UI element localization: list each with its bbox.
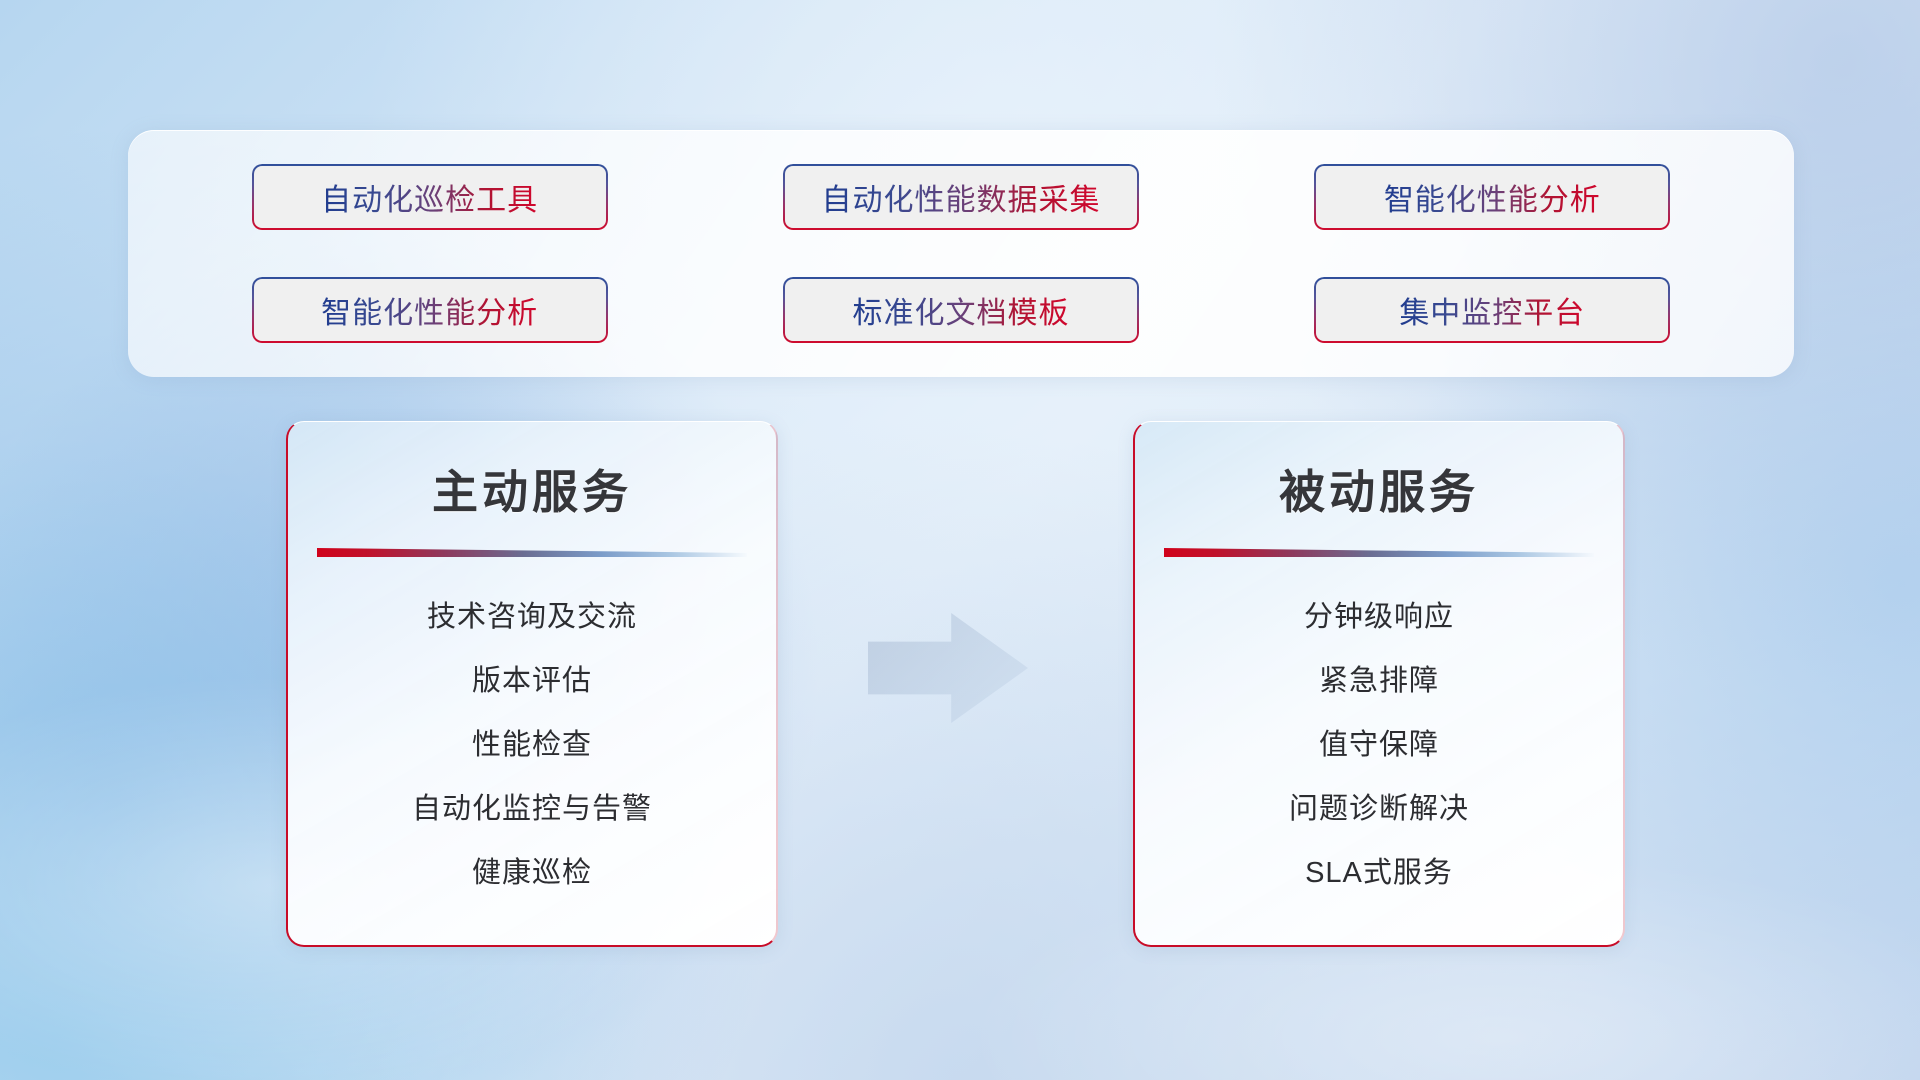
tool-pill[interactable]: 自动化性能数据采集 bbox=[783, 164, 1139, 230]
tool-pill-label: 自动化巡检工具 bbox=[321, 175, 538, 219]
tool-pill[interactable]: 集中监控平台 bbox=[1314, 277, 1670, 343]
reactive-service-card: 被动服务 分钟级响应 紧急排障 值守保障 问题诊断解决 SLA式服务 bbox=[1133, 421, 1625, 947]
list-item: 分钟级响应 bbox=[1304, 593, 1454, 635]
tool-pill-label: 标准化文档模板 bbox=[852, 288, 1069, 332]
tool-pill-label: 智能化性能分析 bbox=[321, 288, 538, 332]
list-item: 健康巡检 bbox=[472, 849, 592, 891]
list-item: 紧急排障 bbox=[1319, 657, 1439, 699]
card-divider bbox=[1164, 548, 1594, 557]
tool-pill[interactable]: 标准化文档模板 bbox=[783, 277, 1139, 343]
proactive-service-list: 技术咨询及交流 版本评估 性能检查 自动化监控与告警 健康巡检 bbox=[288, 557, 776, 891]
list-item: 技术咨询及交流 bbox=[427, 593, 637, 635]
tool-pill[interactable]: 自动化巡检工具 bbox=[252, 164, 608, 230]
tool-pill[interactable]: 智能化性能分析 bbox=[252, 277, 608, 343]
card-divider bbox=[317, 548, 747, 557]
list-item: 问题诊断解决 bbox=[1289, 785, 1469, 827]
tool-pill-label: 智能化性能分析 bbox=[1384, 175, 1601, 219]
tool-pill[interactable]: 智能化性能分析 bbox=[1314, 164, 1670, 230]
tools-panel: 自动化巡检工具 自动化性能数据采集 智能化性能分析 智能化性能分析 标准化文档模… bbox=[128, 130, 1794, 377]
list-item: SLA式服务 bbox=[1305, 849, 1453, 891]
list-item: 值守保障 bbox=[1319, 721, 1439, 763]
reactive-card-title: 被动服务 bbox=[1135, 422, 1623, 522]
list-item: 性能检查 bbox=[472, 721, 592, 763]
list-item: 版本评估 bbox=[472, 657, 592, 699]
proactive-card-title: 主动服务 bbox=[288, 422, 776, 522]
proactive-service-card: 主动服务 技术咨询及交流 版本评估 性能检查 自动化监控与告警 健康巡检 bbox=[286, 421, 778, 947]
tool-pill-label: 自动化性能数据采集 bbox=[821, 175, 1100, 219]
reactive-service-list: 分钟级响应 紧急排障 值守保障 问题诊断解决 SLA式服务 bbox=[1135, 557, 1623, 891]
tool-pill-label: 集中监控平台 bbox=[1399, 288, 1585, 332]
list-item: 自动化监控与告警 bbox=[412, 785, 652, 827]
